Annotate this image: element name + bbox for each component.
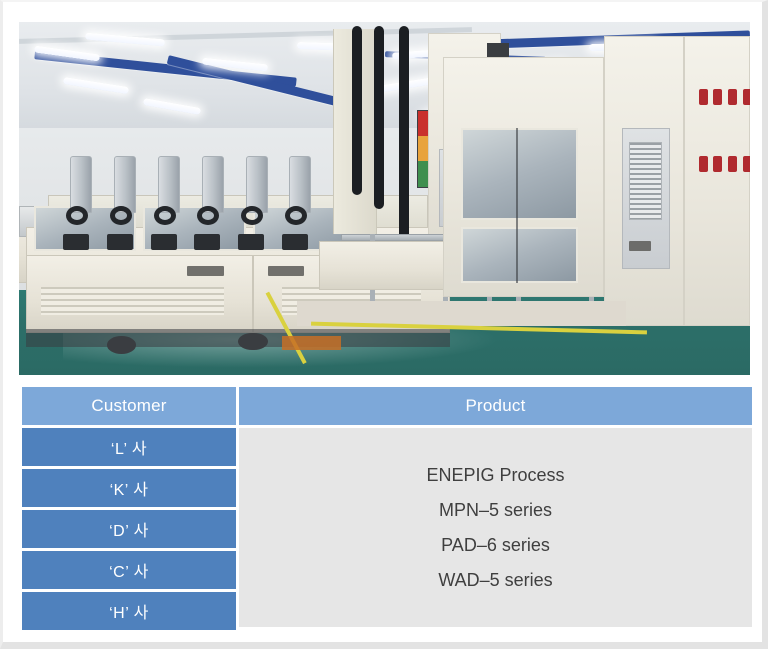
customer-cell-3: ‘D’ 사 xyxy=(22,510,236,548)
product-line-4: WAD–5 series xyxy=(438,571,552,589)
machine-vent-left xyxy=(41,287,224,315)
control-panel-louver xyxy=(629,142,662,220)
customer-column: ‘L’ 사 ‘K’ 사 ‘D’ 사 ‘C’ 사 ‘H’ 사 xyxy=(22,428,236,633)
column-header-customer: Customer xyxy=(22,387,236,425)
table-row: ‘H’ 사 xyxy=(22,592,236,630)
indicator-led-8 xyxy=(743,156,750,172)
hose-3 xyxy=(399,26,409,245)
indicator-led-4 xyxy=(743,89,750,105)
product-line-1: ENEPIG Process xyxy=(426,466,564,484)
machine-nameplate-1 xyxy=(187,266,224,277)
column-header-product: Product xyxy=(239,387,752,425)
indicator-led-1 xyxy=(699,89,708,105)
indicator-led-2 xyxy=(713,89,722,105)
product-line-2: MPN–5 series xyxy=(439,501,552,519)
right-cabinet-2 xyxy=(684,36,750,325)
plating-head-6 xyxy=(289,156,311,212)
product-merged-cell: ENEPIG Process MPN–5 series PAD–6 series… xyxy=(239,428,752,627)
slide-canvas: Customer Product ‘L’ 사 ‘K’ 사 ‘D’ 사 ‘C’ 사… xyxy=(0,0,768,649)
plating-head-1 xyxy=(70,156,92,212)
plating-head-ring-2 xyxy=(110,206,132,225)
glass-door-lower xyxy=(461,227,578,283)
indicator-led-7 xyxy=(728,156,737,172)
plating-head-foot-6 xyxy=(282,234,308,250)
plating-head-2 xyxy=(114,156,136,212)
glass-door-upper xyxy=(461,128,578,220)
plating-head-4 xyxy=(202,156,224,212)
plating-head-foot-2 xyxy=(107,234,133,250)
plating-head-ring-5 xyxy=(241,206,263,225)
plating-head-ring-3 xyxy=(154,206,176,225)
indicator-led-6 xyxy=(713,156,722,172)
plating-head-ring-6 xyxy=(285,206,307,225)
factory-production-line-photo xyxy=(19,22,750,375)
plating-head-foot-1 xyxy=(63,234,89,250)
customer-cell-2: ‘K’ 사 xyxy=(22,469,236,507)
table-row: ‘K’ 사 xyxy=(22,469,236,507)
product-line-3: PAD–6 series xyxy=(441,536,550,554)
indicator-led-3 xyxy=(728,89,737,105)
plating-head-ring-1 xyxy=(66,206,88,225)
pallet-jack xyxy=(282,336,340,350)
plating-head-3 xyxy=(158,156,180,212)
customer-cell-5: ‘H’ 사 xyxy=(22,592,236,630)
indicator-led-5 xyxy=(699,156,708,172)
plating-head-foot-4 xyxy=(194,234,220,250)
plating-head-ring-4 xyxy=(197,206,219,225)
table-header-row: Customer Product xyxy=(22,387,752,425)
machine-nameplate-2 xyxy=(268,266,305,277)
plating-head-foot-5 xyxy=(238,234,264,250)
customer-cell-4: ‘C’ 사 xyxy=(22,551,236,589)
table-row: ‘L’ 사 xyxy=(22,428,236,466)
customer-cell-1: ‘L’ 사 xyxy=(22,428,236,466)
table-row: ‘D’ 사 xyxy=(22,510,236,548)
hose-1 xyxy=(352,26,362,195)
control-panel-label xyxy=(629,241,651,252)
table-row: ‘C’ 사 xyxy=(22,551,236,589)
machine-caster-1 xyxy=(238,333,267,351)
customer-product-table: Customer Product xyxy=(22,387,752,428)
glass-door-mullion xyxy=(516,128,518,283)
plating-head-5 xyxy=(246,156,268,212)
plating-head-foot-3 xyxy=(151,234,177,250)
machine-caster-2 xyxy=(107,336,136,354)
hose-2 xyxy=(374,26,384,210)
factory-photo-frame xyxy=(19,22,750,375)
